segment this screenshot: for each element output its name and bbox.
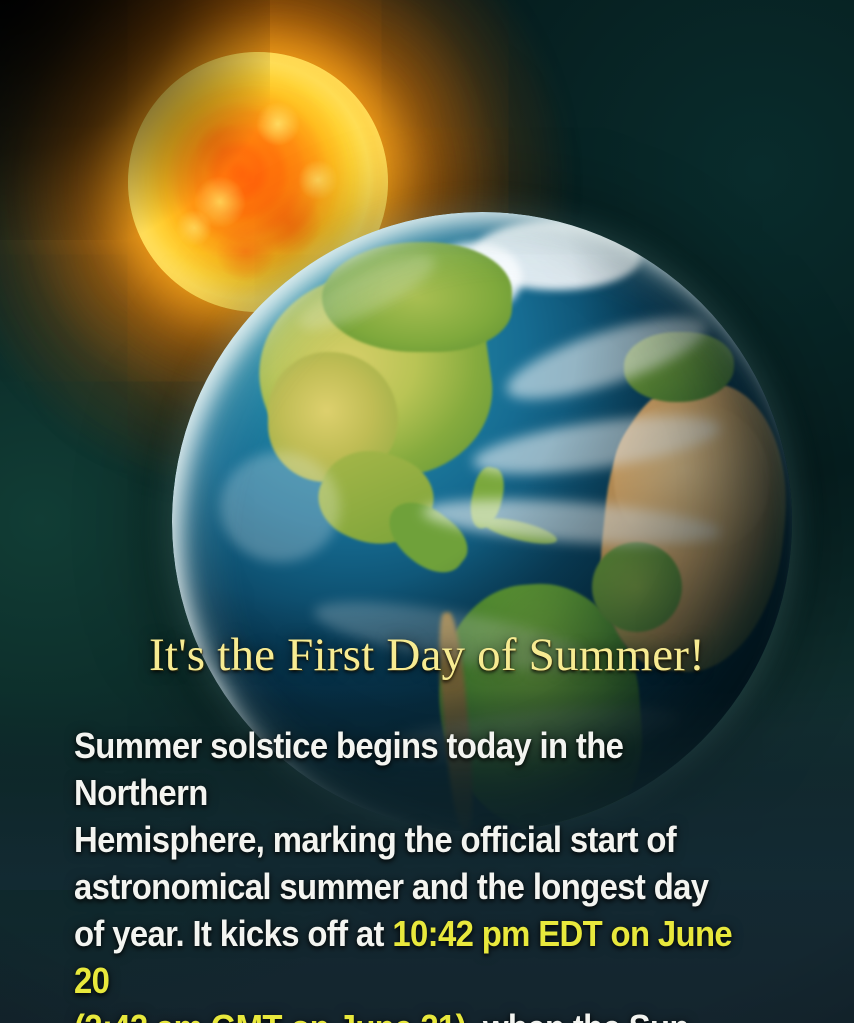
solstice-poster: It's the First Day of Summer! Summer sol… xyxy=(0,0,854,1023)
body-line-4-prefix: of year. It kicks off at xyxy=(74,913,392,954)
body-line-5-suffix: when the Sun xyxy=(474,1007,688,1023)
body-line-3: astronomical summer and the longest day xyxy=(74,866,708,907)
body-line-1: Summer solstice begins today in the Nort… xyxy=(74,725,632,813)
page-title: It's the First Day of Summer! xyxy=(0,628,854,682)
body-copy: Summer solstice begins today in the Nort… xyxy=(74,722,762,1023)
solstice-time-gmt: (2:42 am GMT on June 21), xyxy=(74,1007,474,1023)
body-line-2: Hemisphere, marking the official start o… xyxy=(74,819,676,860)
